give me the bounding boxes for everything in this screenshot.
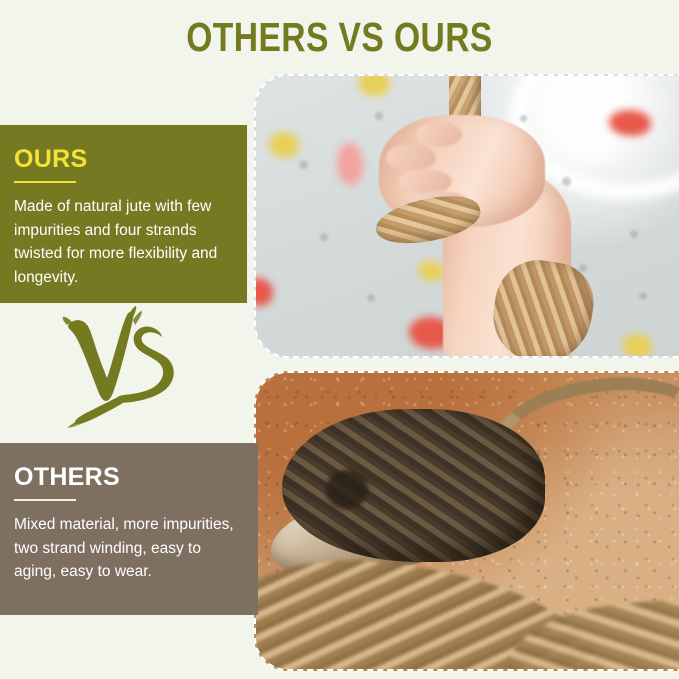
- weathered-rope-knot: [282, 409, 546, 563]
- photo-others-rope: [254, 371, 679, 671]
- knuckle: [399, 169, 452, 194]
- card-ours-heading: OURS: [14, 147, 223, 172]
- card-others-divider: [14, 499, 76, 501]
- climbing-hold: [418, 261, 444, 281]
- card-others: OTHERS Mixed material, more impurities, …: [0, 443, 258, 615]
- climbing-hold: [622, 334, 652, 356]
- card-ours-divider: [14, 181, 76, 183]
- photo-others-content: [256, 373, 679, 669]
- wall-dot: [520, 115, 527, 122]
- card-others-heading: OTHERS: [14, 465, 234, 490]
- wall-dot: [562, 177, 571, 186]
- knot-shadow-hole: [326, 470, 368, 508]
- wall-dot: [639, 292, 647, 300]
- wall-dot: [367, 294, 375, 302]
- card-ours: OURS Made of natural jute with few impur…: [0, 125, 247, 303]
- climbing-hold: [269, 132, 299, 158]
- card-ours-body: Made of natural jute with few impurities…: [14, 195, 223, 289]
- photo-ours-content: [256, 76, 679, 356]
- page-title: OTHERS VS OURS: [61, 14, 618, 61]
- wall-dot: [299, 160, 308, 169]
- card-others-body: Mixed material, more impurities, two str…: [14, 513, 234, 584]
- wall-dot: [579, 264, 587, 272]
- comparison-infographic: OTHERS VS OURS: [0, 0, 679, 679]
- climbing-hold: [337, 143, 363, 185]
- knuckle: [416, 122, 462, 147]
- photo-ours-rope: [254, 74, 679, 358]
- vs-badge: [60, 306, 180, 428]
- climbing-hold: [609, 110, 651, 136]
- wall-dot: [630, 230, 638, 238]
- wall-dot: [320, 233, 328, 241]
- vs-brush-icon: [63, 306, 174, 428]
- knuckle: [386, 144, 436, 171]
